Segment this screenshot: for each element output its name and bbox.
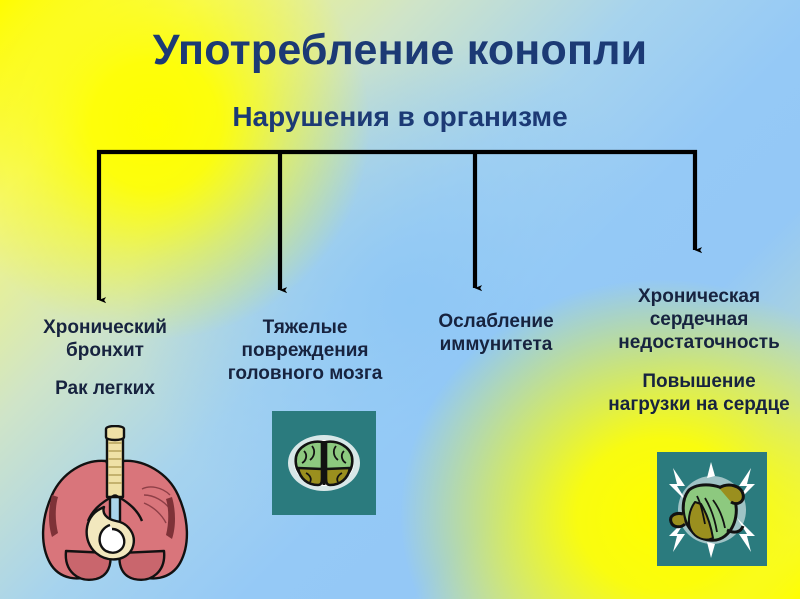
label-chronic-bronchitis: Хронический бронхит (10, 316, 200, 362)
brain-illustration (272, 411, 376, 515)
label-weak-immunity: Ослабление иммунитета (406, 310, 586, 356)
slide-subtitle: Нарушения в организме (0, 101, 800, 133)
heart-illustration (657, 452, 767, 566)
label-brain-damage: Тяжелые повреждения головного мозга (212, 316, 398, 386)
slide-canvas: Употребление конопли Нарушения в организ… (0, 0, 800, 599)
label-heart-load: Повышение нагрузки на сердце (600, 370, 798, 416)
label-heart-failure: Хроническая сердечная недостаточность (600, 285, 798, 355)
lungs-illustration (22, 425, 208, 593)
label-lung-cancer: Рак легких (10, 377, 200, 400)
slide-title: Употребление конопли (0, 26, 800, 75)
